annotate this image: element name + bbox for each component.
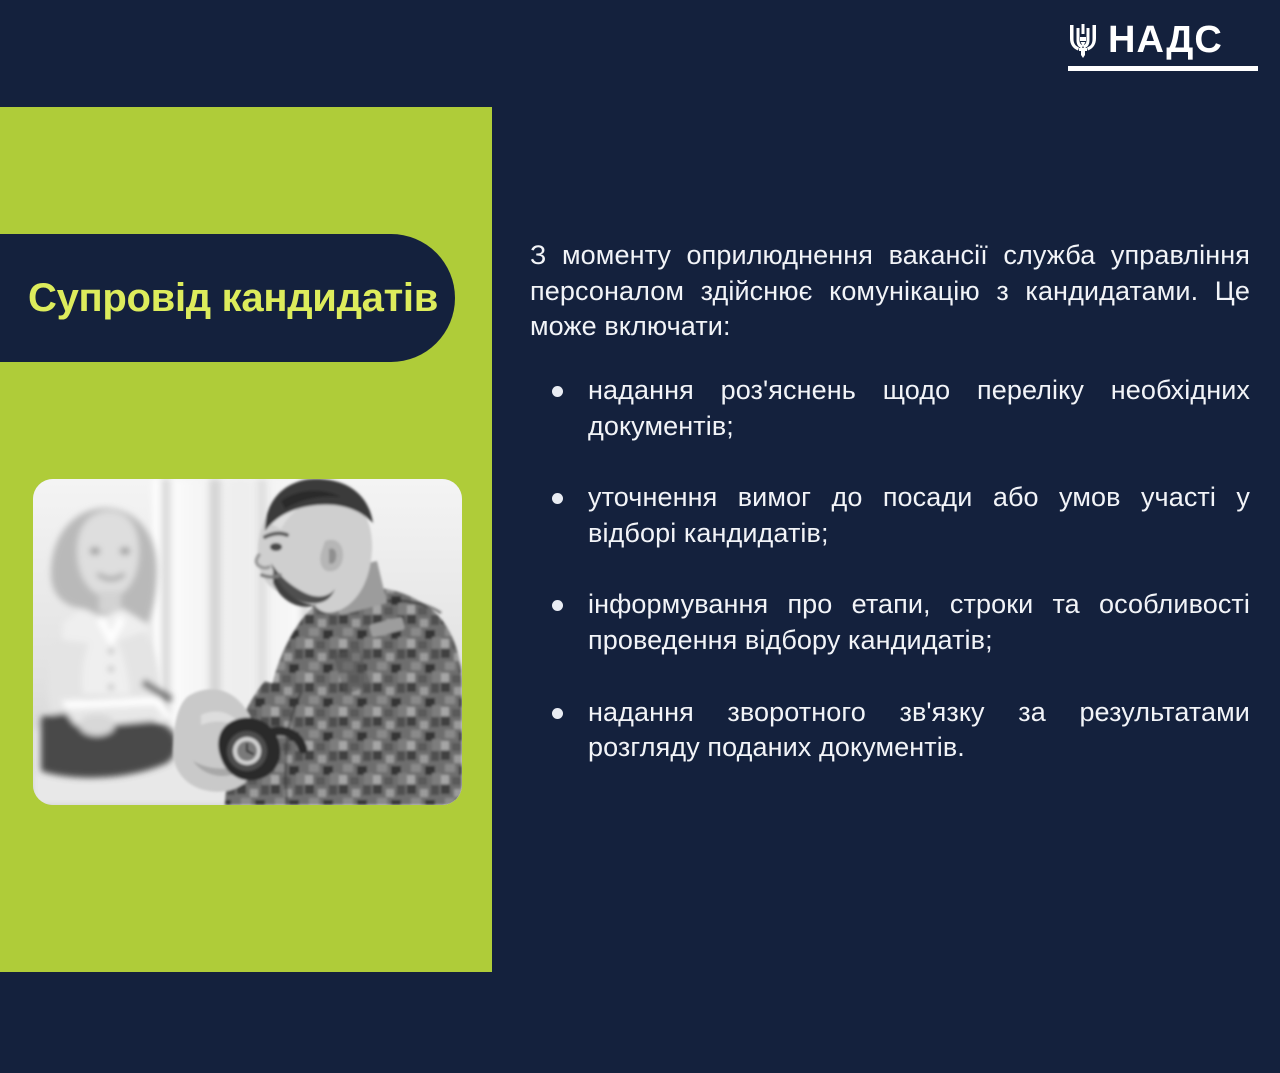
content-column: З моменту оприлюднення вакансії служба у… [530,238,1250,766]
list-item: інформування про етапи, строки та особли… [530,587,1250,658]
list-item: надання зворотного зв'язку за результата… [530,695,1250,766]
page-title: Супровід кандидатів [28,276,438,321]
title-pill: Супровід кандидатів [0,234,455,362]
bullet-dot-icon [552,493,563,504]
list-item: надання роз'яснень щодо переліку необхід… [530,373,1250,444]
ukraine-trident-icon [1068,20,1098,60]
list-item-text: надання роз'яснень щодо переліку необхід… [588,375,1250,441]
bullet-dot-icon [552,386,563,397]
bullet-dot-icon [552,708,563,719]
list-item-text: надання зворотного зв'язку за результата… [588,697,1250,763]
intro-paragraph: З моменту оприлюднення вакансії служба у… [530,238,1250,345]
logo-text: НАДС [1108,20,1223,60]
list-item-text: уточнення вимог до посади або умов участ… [588,482,1250,548]
slide-root: НАДС Супровід кандидатів [0,0,1280,1073]
photo-soldier-counseling [33,479,462,805]
logo-row: НАДС [1068,18,1223,62]
nads-logo: НАДС [1068,18,1260,71]
list-item-text: інформування про етапи, строки та особли… [588,589,1250,655]
list-item: уточнення вимог до посади або умов участ… [530,480,1250,551]
bullet-list: надання роз'яснень щодо переліку необхід… [530,373,1250,766]
logo-underline [1068,66,1258,71]
bullet-dot-icon [552,600,563,611]
